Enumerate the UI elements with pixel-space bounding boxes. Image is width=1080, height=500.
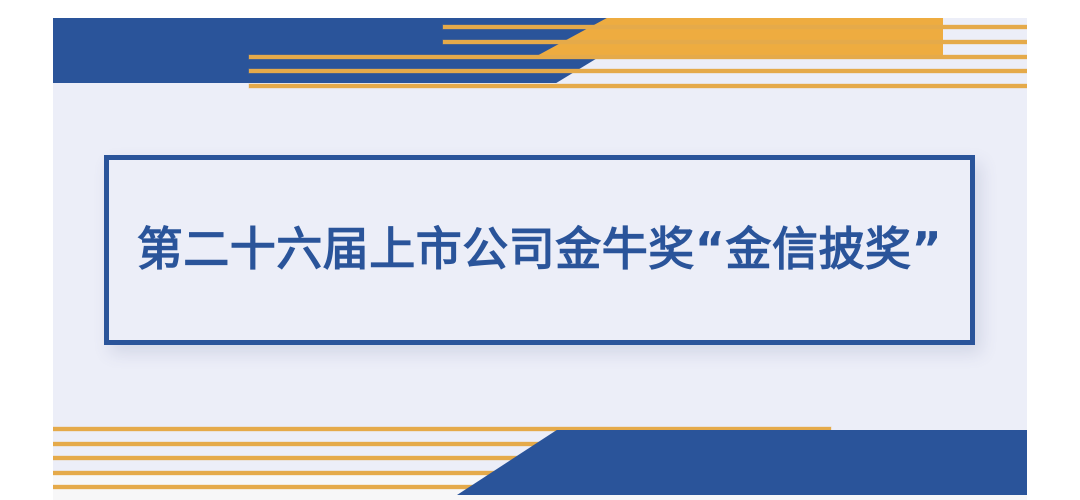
bottom-stripe-5 (53, 485, 637, 489)
slide-canvas: 第二十六届上市公司金牛奖“金信披奖” (0, 0, 1080, 500)
page-title: 第二十六届上市公司金牛奖“金信披奖” (137, 221, 942, 279)
title-box: 第二十六届上市公司金牛奖“金信披奖” (104, 155, 975, 345)
